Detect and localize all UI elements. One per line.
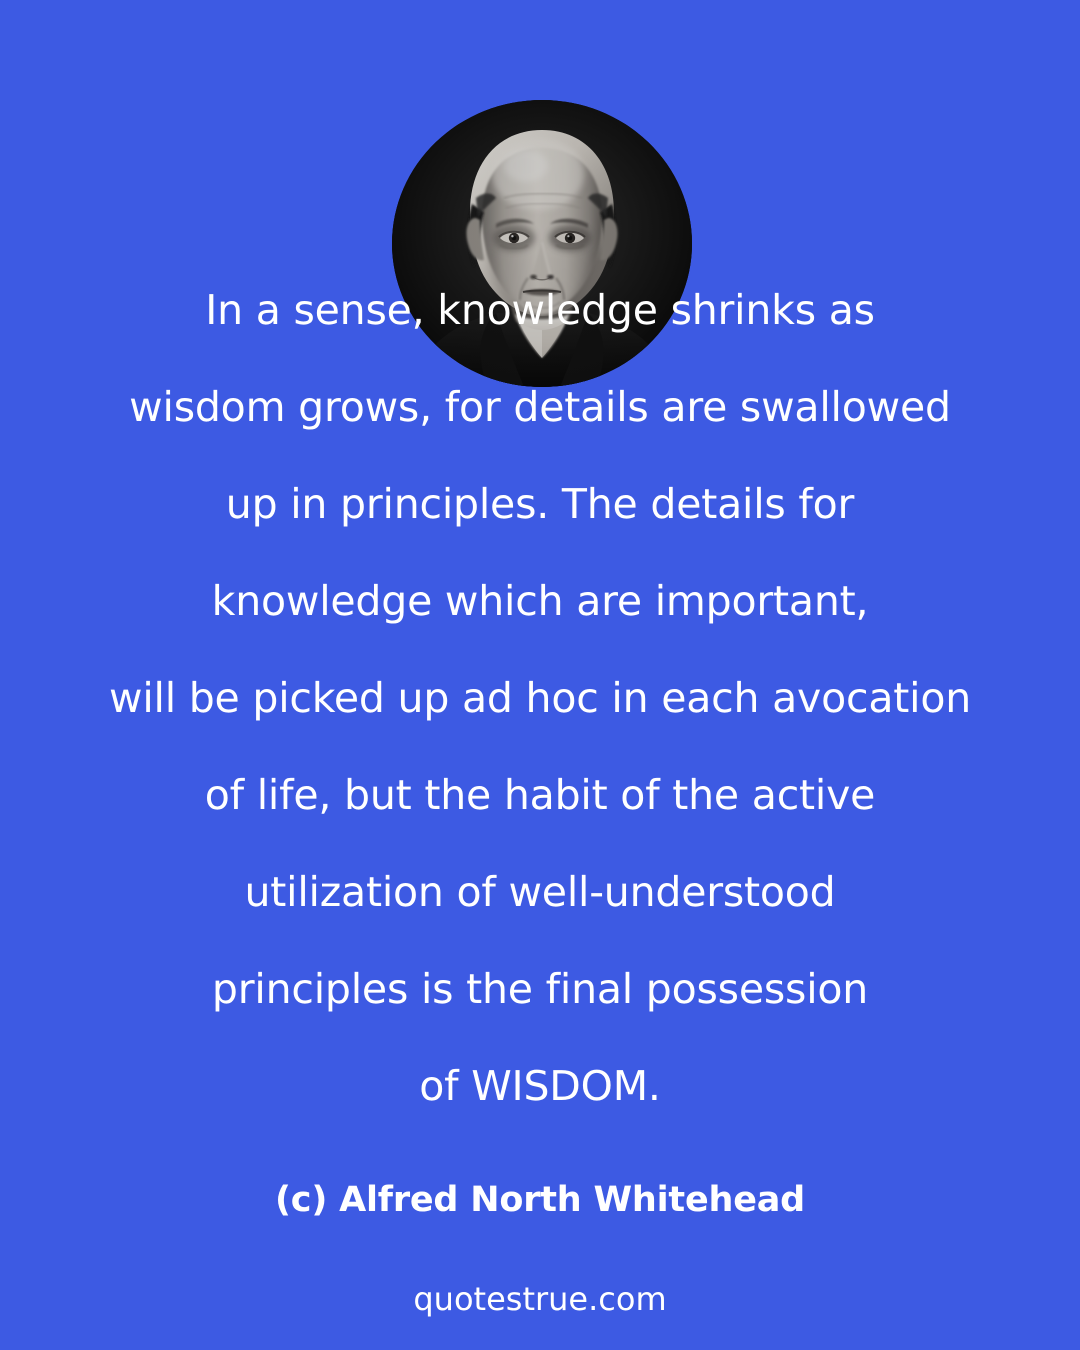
quote-line: of WISDOM. [0, 1038, 1080, 1135]
quote-line: will be picked up ad hoc in each avocati… [0, 650, 1080, 747]
site-watermark: quotestrue.com [0, 1276, 1080, 1322]
quote-body: In a sense, knowledge shrinks as wisdom … [0, 262, 1080, 1135]
quote-line: In a sense, knowledge shrinks as [0, 262, 1080, 359]
quote-line: knowledge which are important, [0, 553, 1080, 650]
quote-attribution: (c) Alfred North Whitehead [0, 1174, 1080, 1226]
quote-card: In a sense, knowledge shrinks as wisdom … [0, 0, 1080, 1350]
quote-line: principles is the final possession [0, 941, 1080, 1038]
quote-line: of life, but the habit of the active [0, 747, 1080, 844]
quote-line: up in principles. The details for [0, 456, 1080, 553]
quote-line: wisdom grows, for details are swallowed [0, 359, 1080, 456]
quote-line: utilization of well-understood [0, 844, 1080, 941]
